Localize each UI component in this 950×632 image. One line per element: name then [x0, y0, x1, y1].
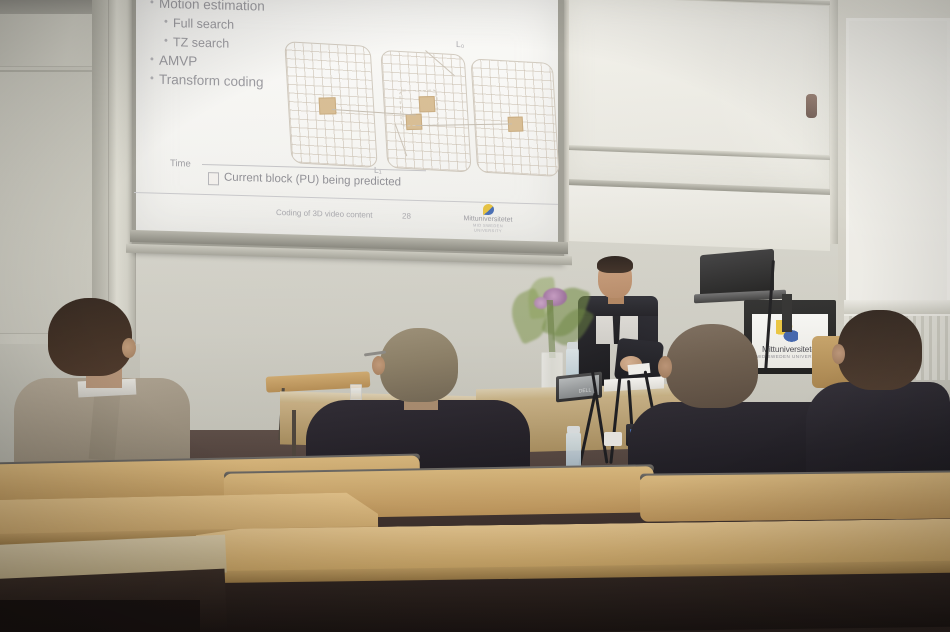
whiteboard	[568, 0, 830, 191]
slide-page-number: 28	[402, 212, 411, 221]
bullet-label: Motion estimation	[159, 0, 265, 15]
water-bottle-cap	[567, 342, 578, 349]
bullet-icon: •	[150, 0, 159, 11]
audience-member-head	[838, 310, 922, 390]
audience-member-ear	[372, 356, 385, 375]
power-adapter	[604, 432, 622, 446]
diagram-search-window	[399, 90, 439, 127]
audience-member-ear	[832, 344, 845, 364]
audience-member-ear	[122, 338, 136, 358]
drinking-glass	[350, 384, 362, 400]
whiteboard-lower-panel	[568, 185, 830, 251]
audience-member-head	[380, 328, 458, 402]
list-item: • Full search	[164, 15, 340, 36]
left-wall-panel-inset	[0, 66, 102, 334]
presenter-hair	[597, 256, 633, 273]
foreground-desk-underside	[196, 573, 950, 632]
diagram-block	[319, 97, 337, 114]
audience-member-head	[666, 324, 758, 408]
audience-member-head	[48, 298, 132, 376]
flower-bloom	[534, 297, 548, 309]
list-item: • Motion estimation	[150, 0, 340, 17]
bullet-label: AMVP	[159, 53, 197, 70]
floor-shadow	[0, 600, 200, 632]
slide-footer-logo-sub: MID SWEDEN UNIVERSITY	[462, 222, 514, 233]
left-wall-panel-line	[0, 70, 102, 72]
legend-swatch-icon	[208, 172, 219, 185]
audience-member-ear	[658, 356, 672, 378]
diagram-label-l0: L₀	[456, 39, 464, 49]
bullet-icon: •	[164, 34, 173, 49]
diagram-axis-label-time: Time	[170, 158, 191, 170]
water-bottle-cap	[567, 426, 580, 433]
whiteboard-wall-fixture	[806, 94, 817, 118]
window-frame	[846, 18, 950, 308]
bullet-label: Transform coding	[159, 72, 264, 91]
slide-footer-logo: Mittuniversitetet MID SWEDEN UNIVERSITY	[462, 203, 514, 228]
bullet-icon: •	[150, 52, 159, 67]
bullet-icon: •	[164, 15, 173, 30]
slide-footer-divider	[134, 192, 558, 205]
podium-stem	[782, 294, 792, 332]
bullet-label: Full search	[173, 15, 234, 33]
side-table-leg	[292, 410, 296, 462]
projected-slide: placement intra • Video coding • Motion …	[136, 0, 558, 244]
lecture-hall-photo: placement intra • Video coding • Motion …	[0, 0, 950, 632]
bullet-icon: •	[150, 71, 159, 86]
desk-backrest	[640, 472, 950, 521]
bullet-label: TZ search	[173, 34, 229, 52]
slide-footer-title: Coding of 3D video content	[276, 208, 373, 220]
university-logo-icon	[483, 204, 494, 215]
